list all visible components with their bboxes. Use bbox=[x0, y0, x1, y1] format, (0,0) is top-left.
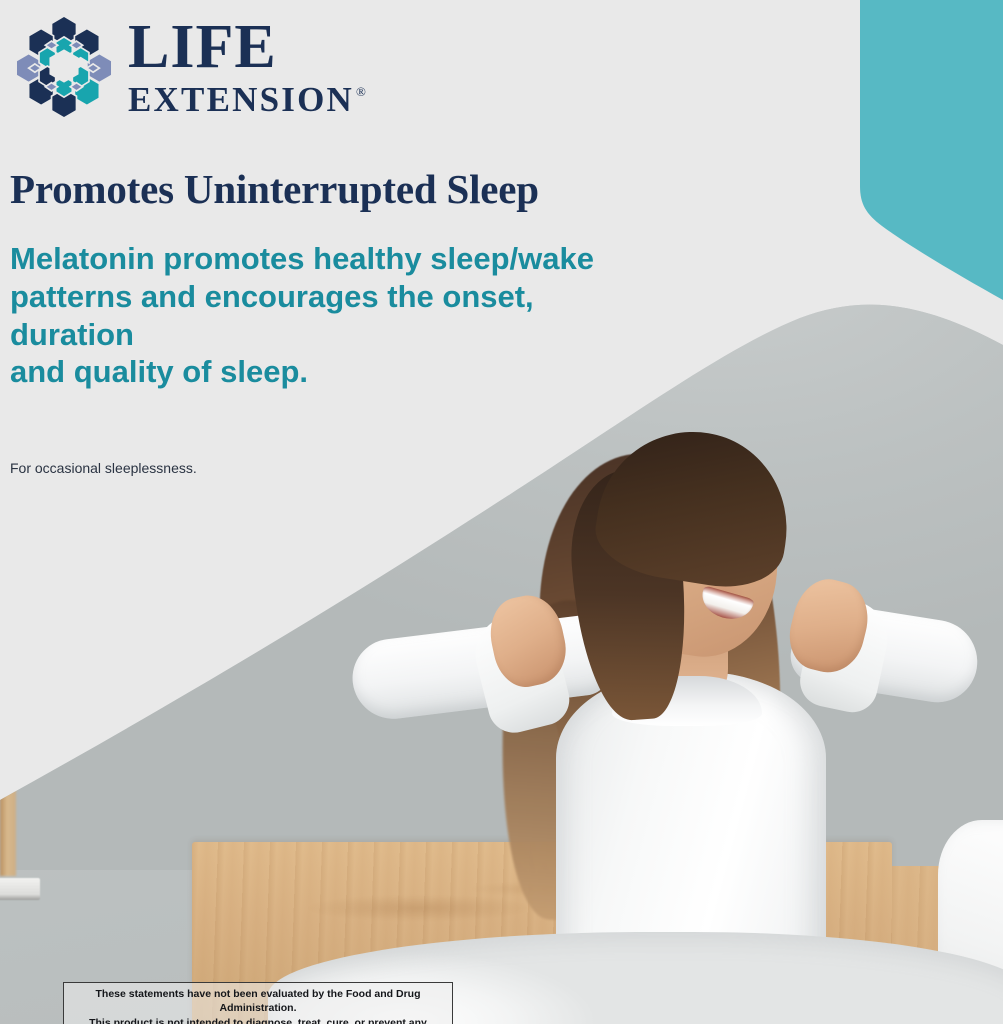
subheadline-line-2: patterns and encourages the onset, durat… bbox=[10, 278, 650, 354]
fda-disclaimer: These statements have not been evaluated… bbox=[63, 982, 453, 1024]
life-extension-hexagon-logo bbox=[12, 14, 116, 118]
hero-photograph bbox=[0, 0, 1003, 1024]
teal-corner-shape bbox=[840, 0, 1003, 300]
subheadline-line-3: and quality of sleep. bbox=[10, 353, 650, 391]
wordmark-life: LIFE bbox=[128, 16, 366, 78]
subheadline-line-1: Melatonin promotes healthy sleep/wake bbox=[10, 240, 650, 278]
fda-disclaimer-line-2: This product is not intended to diagnose… bbox=[70, 1016, 446, 1024]
registered-trademark-symbol: ® bbox=[356, 85, 366, 98]
page-title: Promotes Uninterrupted Sleep bbox=[10, 165, 539, 213]
usage-note: For occasional sleeplessness. bbox=[10, 460, 197, 476]
product-marketing-image: LIFE EXTENSION ® Promotes Uninterrupted … bbox=[0, 0, 1003, 1024]
wordmark-extension: EXTENSION bbox=[128, 82, 354, 117]
brand-logo: LIFE EXTENSION ® bbox=[12, 14, 366, 118]
subheadline: Melatonin promotes healthy sleep/wake pa… bbox=[10, 240, 650, 391]
woman-figure bbox=[0, 0, 1003, 1024]
fda-disclaimer-line-1: These statements have not been evaluated… bbox=[70, 987, 446, 1016]
